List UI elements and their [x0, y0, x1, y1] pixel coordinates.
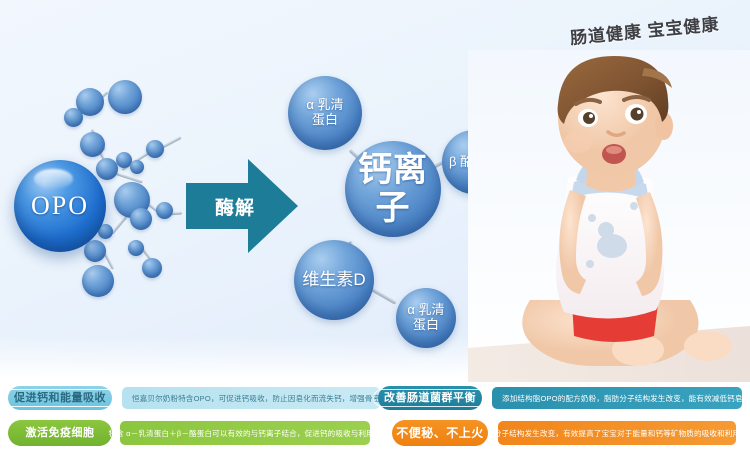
feature-pill: 改善肠道菌群平衡: [378, 386, 482, 410]
baby-photo: [468, 50, 750, 382]
molecule-sphere: [130, 208, 152, 230]
node-alpha-whey-top: α 乳清 蛋白: [288, 76, 362, 150]
node-line: α 乳清: [306, 98, 343, 113]
node-vitamin-d: 维生素D: [294, 240, 374, 320]
feature-rows: 促进钙和能量吸收 恒嘉贝尔奶粉特含OPO，可促进钙吸收，防止因皂化而流失钙，增强…: [0, 382, 750, 460]
node-line: 蛋白: [407, 318, 444, 333]
feature-pill: 不便秘、不上火: [392, 420, 488, 446]
enzymolysis-arrow: 酶解: [186, 157, 298, 255]
feature-calcium-energy[interactable]: 促进钙和能量吸收 恒嘉贝尔奶粉特含OPO，可促进钙吸收，防止因皂化而流失钙，增强…: [8, 386, 380, 410]
molecule-sphere: [156, 202, 173, 219]
opo-label: OPO: [31, 191, 89, 221]
feature-pill-label: 改善肠道菌群平衡: [373, 389, 487, 407]
feature-immune-cells[interactable]: 激活免疫细胞 特含 α－乳清蛋白＋β－酪蛋白可以有效的与钙离子结合，促进钙的吸收…: [8, 420, 370, 446]
molecule-sphere: [130, 160, 144, 174]
feature-desc: 分子结构发生改变，有效提高了宝宝对于能量和钙等矿物质的吸收和利用: [498, 421, 736, 445]
promo-banner: 肠道健康 宝宝健康 OPO: [0, 0, 750, 460]
feature-pill-label: 不便秘、不上火: [386, 425, 494, 441]
feature-desc: 特含 α－乳清蛋白＋β－酪蛋白可以有效的与钙离子结合，促进钙的吸收与利用。: [120, 421, 370, 445]
feature-desc: 添加结构脂OPO的配方奶粉，脂肪分子结构发生改变，能有效减低钙皂产生。: [492, 387, 742, 409]
feature-pill-label: 促进钙和能量吸收: [3, 389, 117, 407]
molecule-sphere: [108, 80, 142, 114]
molecule-sphere: [64, 108, 83, 127]
opo-sphere: OPO: [14, 160, 106, 252]
molecule-sphere: [84, 240, 106, 262]
molecule-sphere: [80, 132, 105, 157]
node-line: 蛋白: [306, 113, 343, 128]
molecule-sphere: [146, 140, 164, 158]
feature-pill: 激活免疫细胞: [8, 420, 112, 446]
node-line: α 乳清: [407, 303, 444, 318]
molecule-sphere: [128, 240, 144, 256]
feature-desc: 恒嘉贝尔奶粉特含OPO，可促进钙吸收，防止因皂化而流失钙，增强骨密度。: [122, 387, 380, 409]
feature-pill-label: 激活免疫细胞: [16, 425, 105, 441]
node-alpha-whey-bottom: α 乳清 蛋白: [396, 288, 456, 348]
feature-no-constipation[interactable]: 不便秘、不上火 分子结构发生改变，有效提高了宝宝对于能量和钙等矿物质的吸收和利用: [392, 420, 736, 446]
molecule-sphere: [96, 158, 118, 180]
feature-gut-flora[interactable]: 改善肠道菌群平衡 添加结构脂OPO的配方奶粉，脂肪分子结构发生改变，能有效减低钙…: [378, 386, 742, 410]
node-calcium-ion: 钙离子: [345, 141, 441, 237]
arrow-label: 酶解: [204, 193, 266, 220]
molecule-sphere: [82, 265, 114, 297]
sphere-highlight: [34, 169, 73, 189]
node-line: 钙离子: [345, 151, 441, 227]
molecule-sphere: [142, 258, 162, 278]
feature-pill: 促进钙和能量吸收: [8, 386, 112, 410]
node-line: 维生素D: [302, 270, 365, 289]
